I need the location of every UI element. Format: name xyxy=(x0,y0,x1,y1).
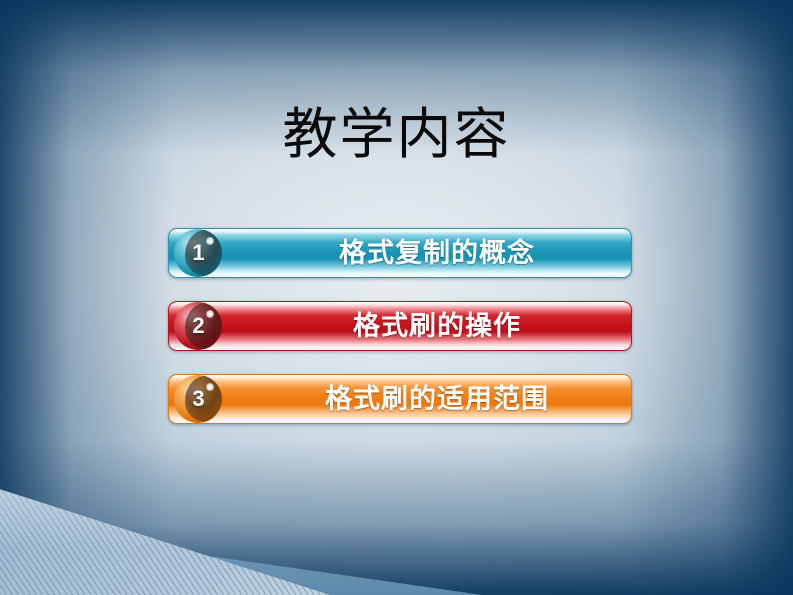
agenda-list: 1 格式复制的概念 2 格式刷的操作 3 格式刷的适用范围 xyxy=(168,228,632,424)
agenda-item-1[interactable]: 1 格式复制的概念 xyxy=(168,228,632,278)
agenda-label-2: 格式刷的操作 xyxy=(242,301,632,351)
presentation-slide: 教学内容 1 格式复制的概念 2 格式刷的操作 3 格式刷的适用范围 xyxy=(0,0,793,595)
agenda-item-2[interactable]: 2 格式刷的操作 xyxy=(168,301,632,351)
sphere-badge-icon: 1 xyxy=(174,229,222,277)
page-title: 教学内容 xyxy=(0,104,793,166)
agenda-label-1: 格式复制的概念 xyxy=(242,228,632,278)
agenda-number-1: 1 xyxy=(174,229,222,277)
agenda-number-3: 3 xyxy=(174,375,222,423)
sphere-badge-icon: 2 xyxy=(174,302,222,350)
agenda-item-3[interactable]: 3 格式刷的适用范围 xyxy=(168,374,632,424)
sphere-badge-icon: 3 xyxy=(174,375,222,423)
agenda-label-3: 格式刷的适用范围 xyxy=(242,374,632,424)
agenda-number-2: 2 xyxy=(174,302,222,350)
